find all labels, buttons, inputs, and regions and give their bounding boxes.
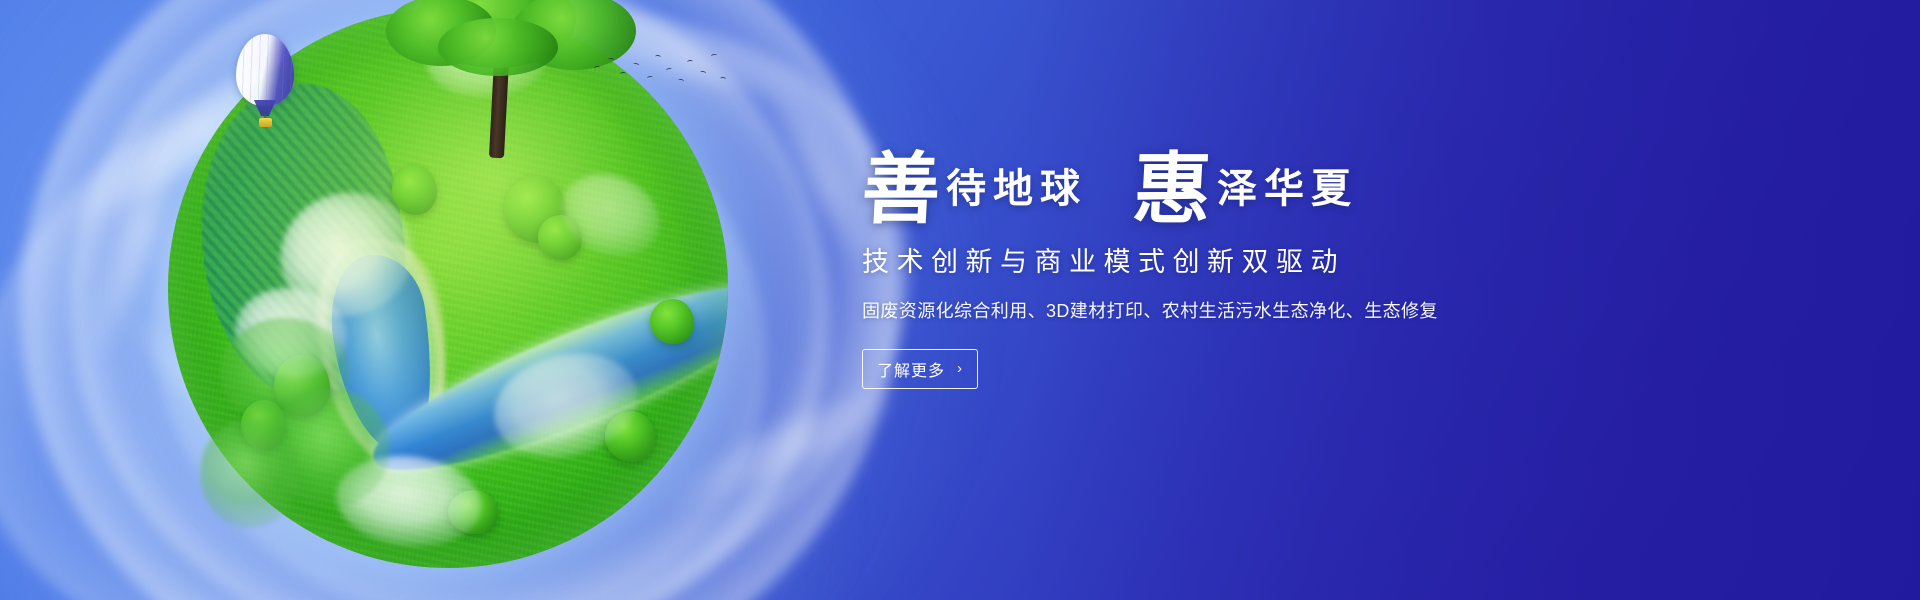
headline: 善 待地球 惠 泽华夏 <box>862 128 1522 220</box>
bird-flock-icon <box>592 52 732 94</box>
chevron-right-icon: › <box>957 361 963 376</box>
headline-text-1: 待地球 <box>946 156 1087 214</box>
hero-content: 善 待地球 惠 泽华夏 技术创新与商业模式创新双驱动 固废资源化综合利用、3D建… <box>862 128 1522 389</box>
learn-more-button[interactable]: 了解更多 › <box>862 349 978 389</box>
hot-air-balloon-icon <box>232 34 302 134</box>
learn-more-label: 了解更多 <box>877 357 945 381</box>
balloon-basket <box>259 118 272 127</box>
tree-canopy <box>438 18 558 76</box>
headline-text-2: 泽华夏 <box>1217 156 1358 214</box>
limb-trees <box>200 308 430 558</box>
subtitle: 技术创新与商业模式创新双驱动 <box>862 240 1522 279</box>
headline-char-1: 善 <box>860 154 942 226</box>
hero-banner: 善 待地球 惠 泽华夏 技术创新与商业模式创新双驱动 固废资源化综合利用、3D建… <box>0 0 1920 600</box>
headline-char-2: 惠 <box>1131 154 1213 226</box>
description: 固废资源化综合利用、3D建材打印、农村生活污水生态净化、生态修复 <box>862 297 1522 323</box>
balloon-seams <box>236 34 294 106</box>
tree-icon <box>200 418 300 528</box>
